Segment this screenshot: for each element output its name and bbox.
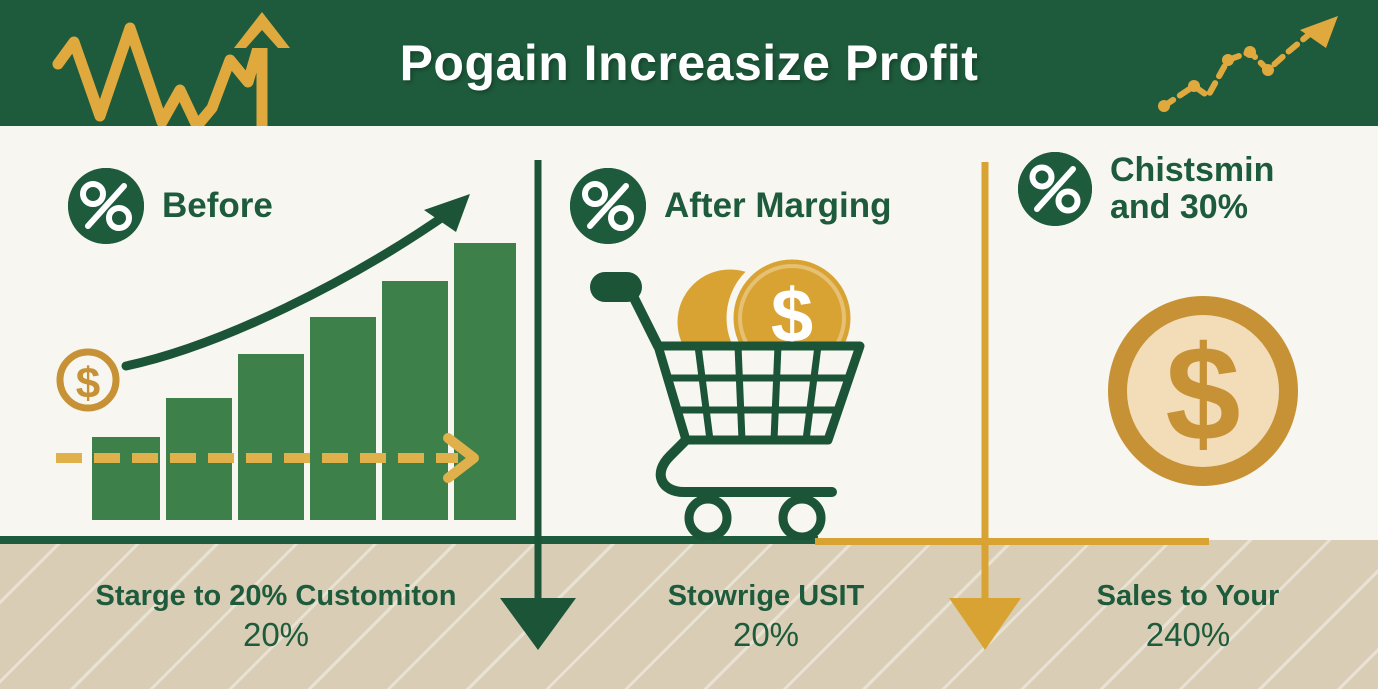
percent-icon (68, 168, 144, 244)
caption-title: Sales to Your (1002, 580, 1374, 613)
caption-title: Stowrige USIT (570, 580, 962, 613)
section-heading-chistsmin: Chistsmin and 30% (1018, 152, 1274, 226)
section-heading-before: Before (68, 168, 273, 244)
caption-title: Starge to 20% Customiton (38, 580, 514, 613)
section-heading-after-marging: After Marging (570, 168, 892, 244)
percent-icon (570, 168, 646, 244)
infographic-canvas: Pogain Increasize Profit (0, 0, 1378, 689)
svg-text:$: $ (76, 359, 100, 408)
caption-value: 20% (38, 615, 514, 655)
caption-value: 240% (1002, 615, 1374, 655)
large-dollar-coin: $ (1100, 288, 1306, 494)
caption-value: 20% (570, 615, 962, 655)
caption-before: Starge to 20% Customiton 20% (38, 580, 514, 655)
dashed-rising-trend-arrow-icon (1150, 8, 1350, 118)
header-banner: Pogain Increasize Profit (0, 0, 1378, 126)
percent-icon (1018, 152, 1092, 226)
dollar-coin-outline-icon: $ (60, 352, 116, 408)
caption-after-marging: Stowrige USIT 20% (570, 580, 962, 655)
divider-arrow-gold (885, 162, 1085, 650)
caption-chistsmin: Sales to Your 240% (1002, 580, 1374, 655)
section-label: Chistsmin and 30% (1110, 152, 1274, 225)
section-label: After Marging (664, 187, 892, 225)
svg-text:$: $ (1165, 318, 1240, 469)
section-label: Before (162, 187, 273, 225)
